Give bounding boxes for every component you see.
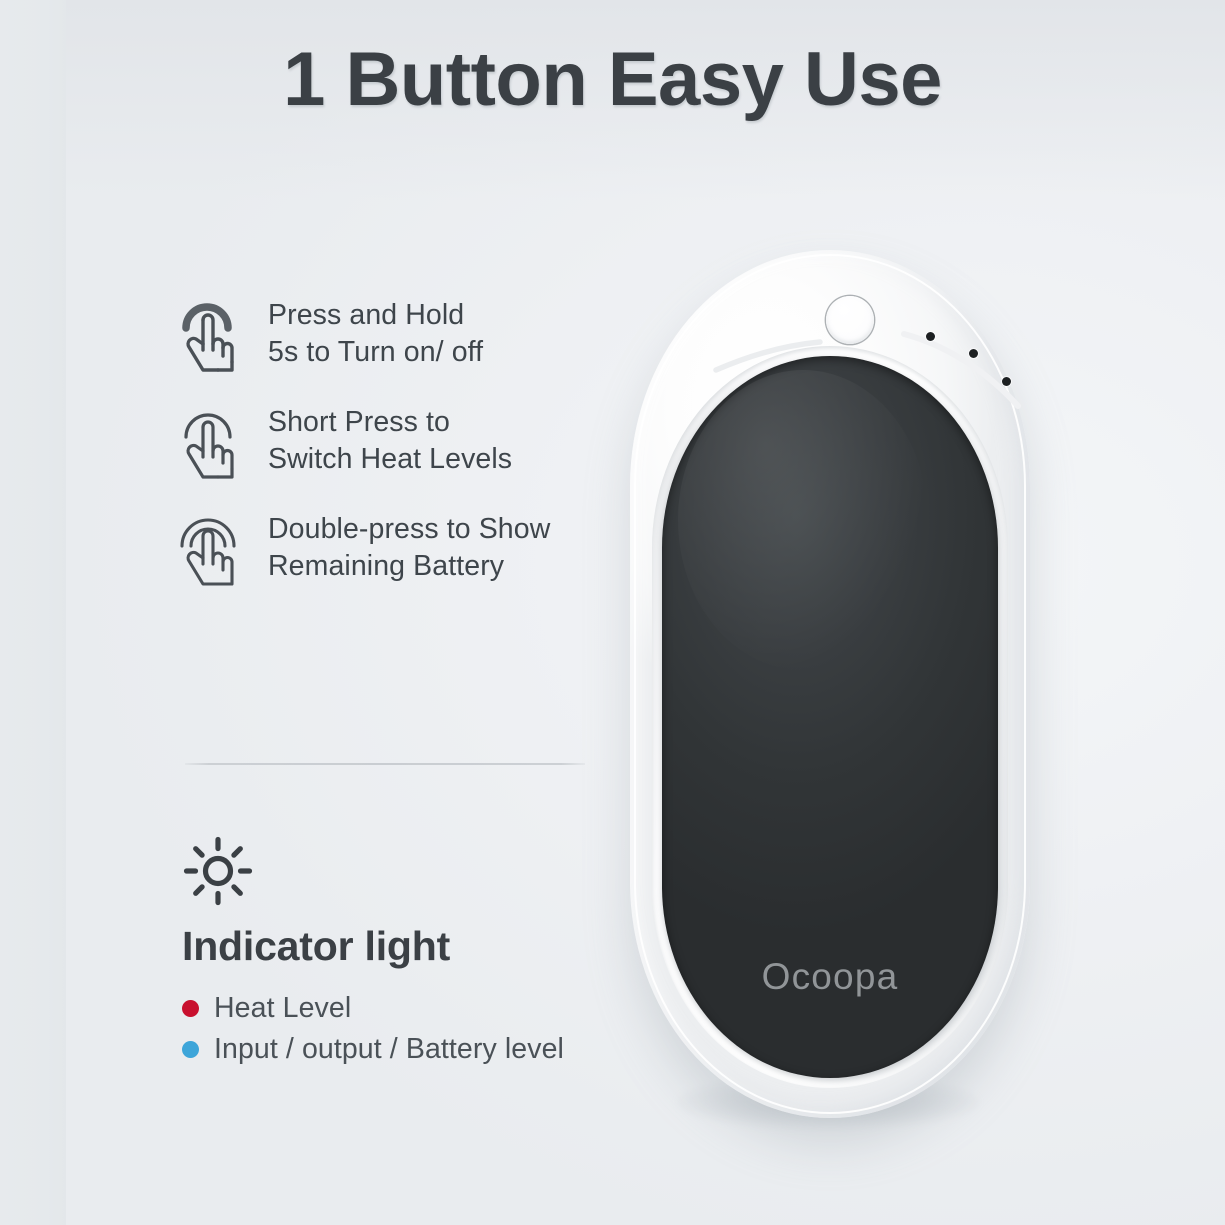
feature-text: Double-press to Show Remaining Battery	[268, 510, 550, 585]
indicator-light-section: Indicator light Heat Level Input / outpu…	[182, 835, 632, 1074]
background-left-band	[0, 0, 66, 1225]
feature-row: Press and Hold 5s to Turn on/ off	[178, 296, 608, 374]
feature-line-1: Short Press to	[268, 406, 450, 438]
feature-list: Press and Hold 5s to Turn on/ off Short …	[178, 296, 608, 617]
battery-level-dot	[182, 1041, 199, 1058]
sun-brightness-icon	[182, 835, 632, 907]
page-title: 1 Button Easy Use	[0, 36, 1225, 123]
hand-warmer-device: Ocoopa	[620, 238, 1040, 1168]
legend-label: Input / output / Battery level	[214, 1033, 564, 1065]
infographic-canvas: 1 Button Easy Use Press a	[0, 0, 1225, 1225]
hand-double-press-icon	[178, 512, 244, 586]
heat-level-dot	[182, 1000, 199, 1017]
brand-logo: Ocoopa	[662, 956, 998, 998]
legend-item: Input / output / Battery level	[182, 1033, 632, 1065]
feature-line-2: Remaining Battery	[268, 548, 550, 585]
feature-text: Short Press to Switch Heat Levels	[268, 403, 512, 478]
indicator-led	[1002, 377, 1011, 386]
hand-press-hold-icon	[178, 298, 244, 372]
legend-item: Heat Level	[182, 992, 632, 1024]
indicator-led	[926, 332, 935, 341]
hand-short-press-icon	[178, 405, 244, 479]
feature-row: Short Press to Switch Heat Levels	[178, 403, 608, 481]
indicator-led	[969, 349, 978, 358]
power-button[interactable]	[826, 296, 874, 344]
feature-text: Press and Hold 5s to Turn on/ off	[268, 296, 483, 371]
feature-line-1: Press and Hold	[268, 299, 464, 331]
section-divider	[185, 763, 585, 765]
legend-label: Heat Level	[214, 992, 351, 1024]
feature-line-2: 5s to Turn on/ off	[268, 334, 483, 371]
indicator-legend: Heat Level Input / output / Battery leve…	[182, 992, 632, 1065]
indicator-light-heading: Indicator light	[182, 923, 632, 970]
feature-line-1: Double-press to Show	[268, 513, 550, 545]
feature-line-2: Switch Heat Levels	[268, 441, 512, 478]
feature-row: Double-press to Show Remaining Battery	[178, 510, 608, 588]
